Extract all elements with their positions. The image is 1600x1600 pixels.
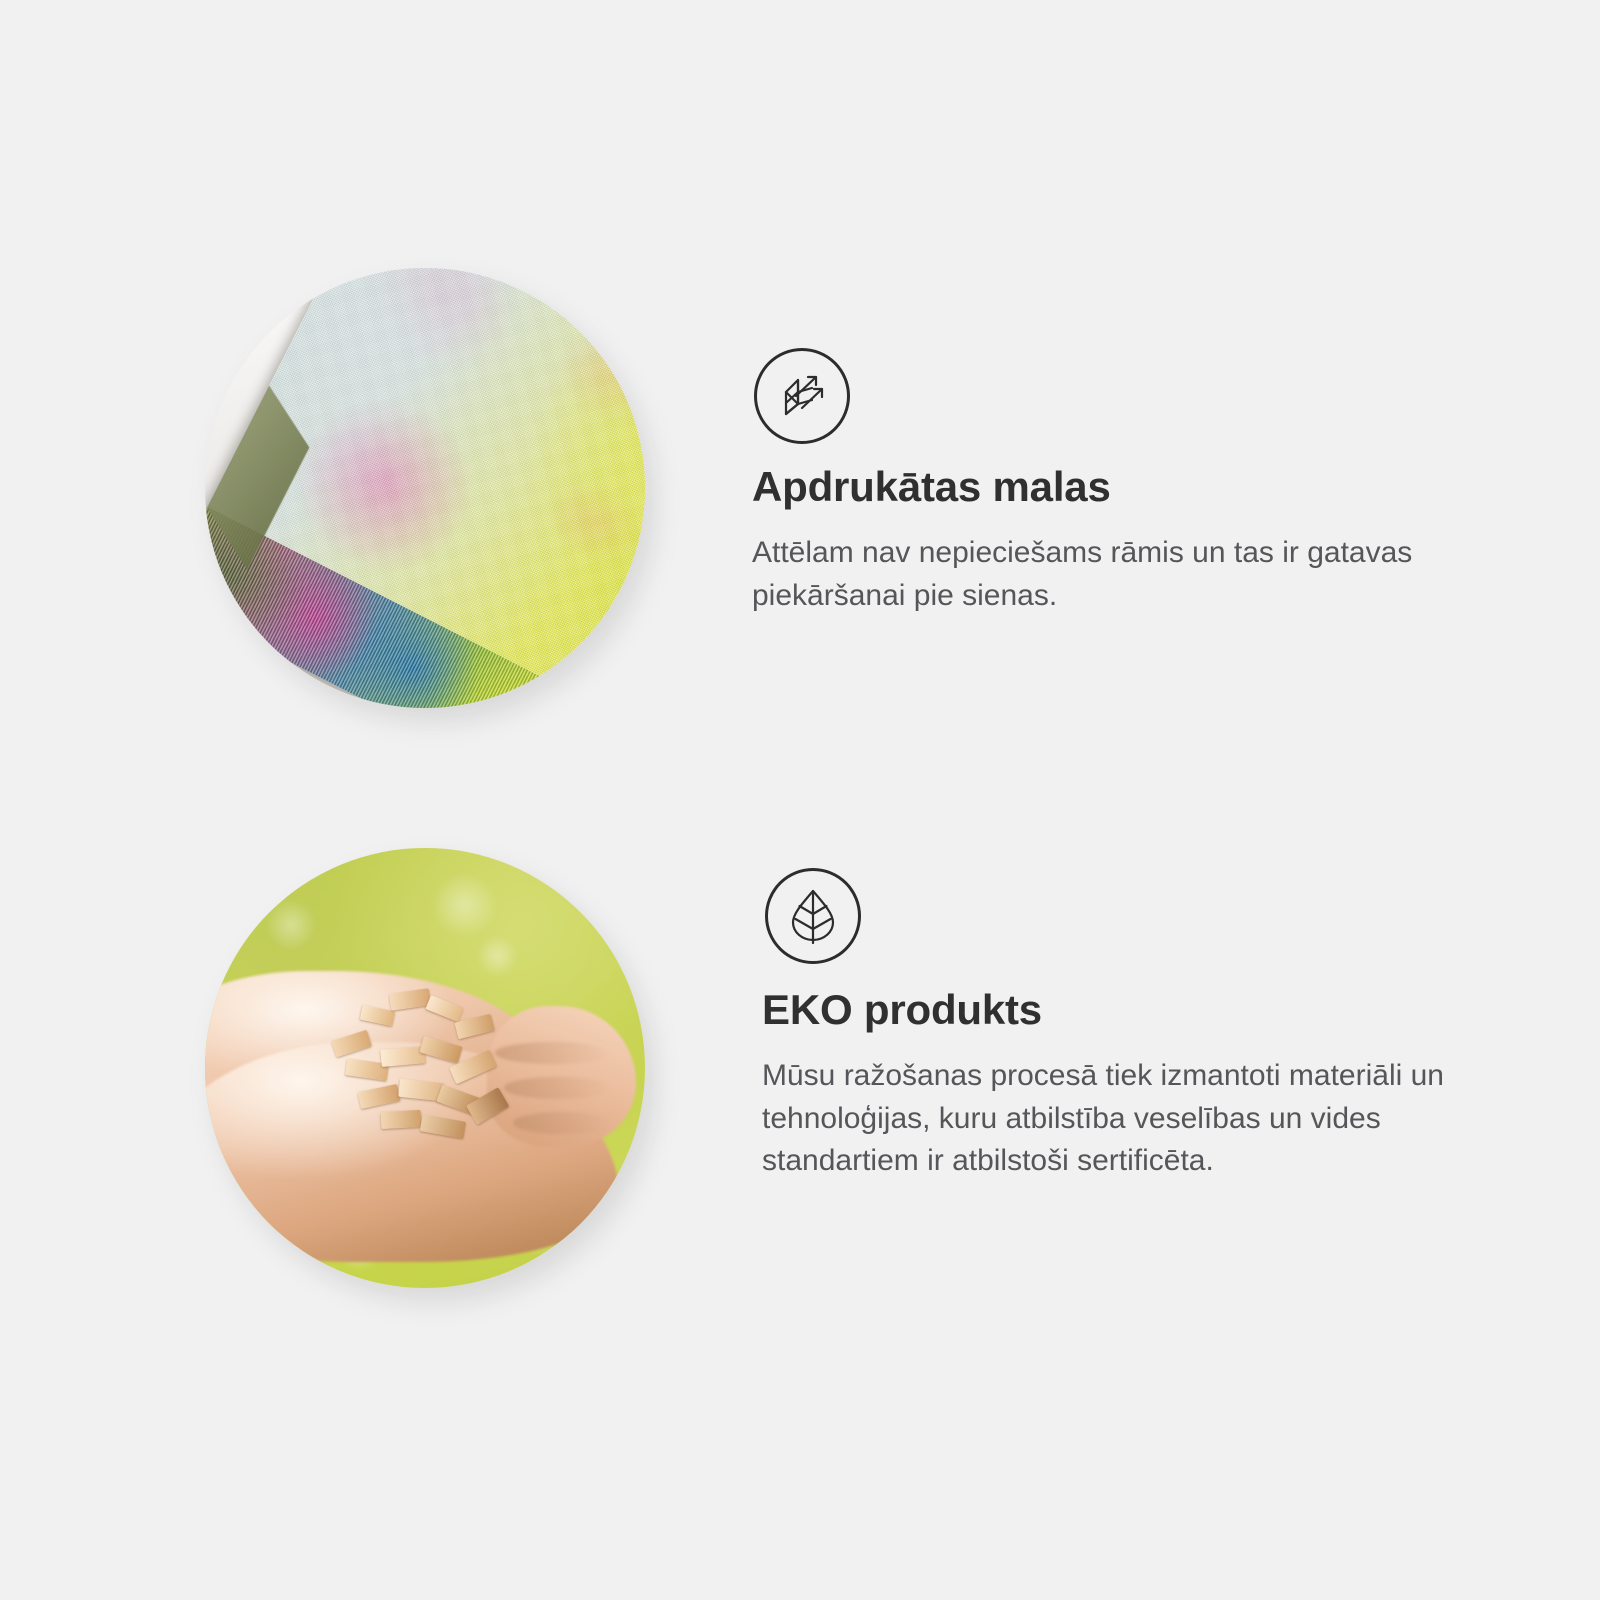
wood-chip — [466, 1087, 509, 1125]
canvas-print-corner-photo — [205, 268, 645, 708]
product-features-page: Apdrukātas malas Attēlam nav nepieciešam… — [0, 0, 1600, 1600]
printed-edges-icon — [754, 348, 850, 444]
feature-block-eko-product: EKO produkts Mūsu ražošanas procesā tiek… — [0, 840, 1600, 1360]
feature-description: Attēlam nav nepieciešams rāmis un tas ir… — [752, 532, 1452, 617]
photo-circle-frame — [205, 268, 645, 708]
bokeh-highlight — [434, 874, 496, 936]
leaf-icon — [765, 868, 861, 964]
canvas-scene — [205, 268, 645, 708]
eco-scene — [205, 848, 645, 1288]
canvas-board — [205, 268, 645, 708]
wood-chips-in-hands-photo — [205, 848, 645, 1288]
wood-chip — [419, 1036, 462, 1063]
bokeh-highlight — [267, 901, 315, 949]
bokeh-highlight — [478, 936, 518, 976]
wood-chip — [380, 1046, 425, 1066]
feature-block-printed-edges: Apdrukātas malas Attēlam nav nepieciešam… — [0, 260, 1600, 780]
photo-circle-frame — [205, 848, 645, 1288]
feature-description: Mūsu ražošanas procesā tiek izmantoti ma… — [762, 1055, 1462, 1183]
wood-chip-pile — [324, 984, 544, 1151]
wood-chip — [419, 1114, 465, 1138]
wood-chip — [389, 988, 431, 1010]
wood-chip — [358, 1084, 400, 1109]
wood-chip — [454, 1014, 494, 1039]
wood-chip — [381, 1110, 421, 1129]
wood-chip — [426, 995, 464, 1022]
feature-title: EKO produkts — [762, 988, 1042, 1032]
wood-chip — [331, 1029, 372, 1056]
feature-title: Apdrukātas malas — [752, 465, 1111, 509]
